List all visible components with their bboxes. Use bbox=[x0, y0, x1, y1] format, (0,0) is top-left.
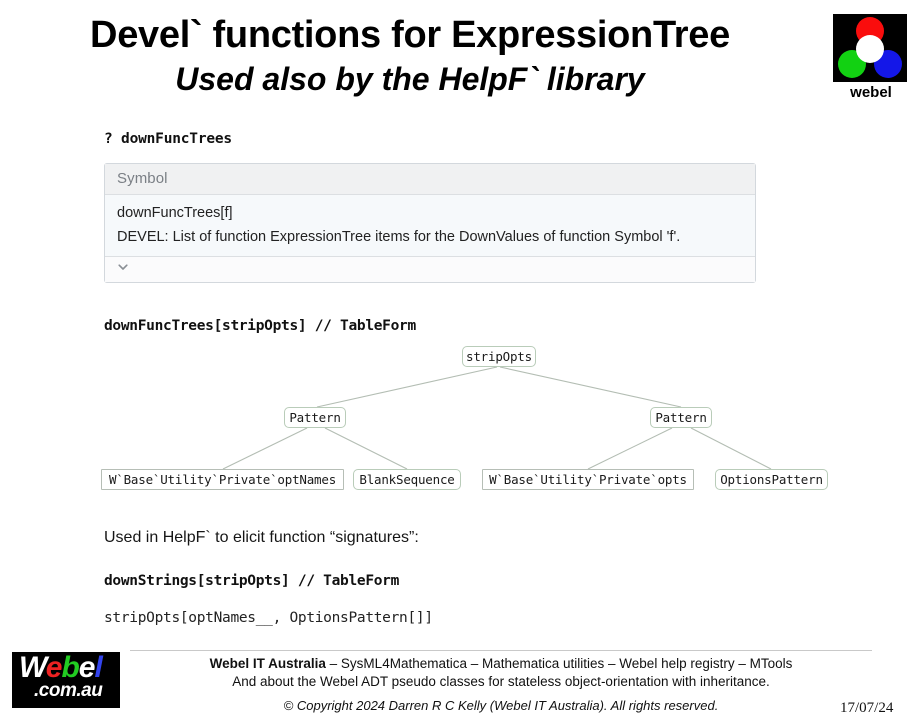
info-usage-text: downFuncTrees[f] bbox=[117, 205, 743, 221]
slide-footer: Webel .com.au Webel IT Australia – SysML… bbox=[0, 638, 920, 725]
tree-node-blanksequence[interactable]: BlankSequence bbox=[353, 469, 461, 490]
footer-line-1: Webel IT Australia – SysML4Mathematica –… bbox=[130, 656, 872, 671]
info-panel-header: Symbol bbox=[105, 164, 755, 195]
rgb-circles-icon bbox=[833, 14, 907, 82]
logo-caption: webel bbox=[833, 84, 909, 101]
footer-copyright: © Copyright 2024 Darren R C Kelly (Webel… bbox=[130, 698, 872, 713]
wordmark-domain: .com.au bbox=[34, 680, 102, 702]
code-line-stripopts-signature: stripOpts[optNames__, OptionsPattern[]] bbox=[104, 610, 433, 626]
title-block: Devel` functions for ExpressionTree Used… bbox=[0, 12, 820, 100]
info-description-text: DEVEL: List of function ExpressionTree i… bbox=[117, 229, 743, 245]
tree-node-root[interactable]: stripOpts bbox=[462, 346, 536, 367]
slide-header: Devel` functions for ExpressionTree Used… bbox=[0, 0, 920, 118]
page-title: Devel` functions for ExpressionTree bbox=[0, 12, 820, 58]
code-line-downstrings: downStrings[stripOpts] // TableForm bbox=[104, 573, 399, 589]
footer-company-name: Webel IT Australia bbox=[210, 656, 326, 671]
tree-node-optionspattern[interactable]: OptionsPattern bbox=[715, 469, 828, 490]
tree-node-pattern-right[interactable]: Pattern bbox=[650, 407, 712, 428]
footer-divider bbox=[130, 650, 872, 651]
query-input-line: ? downFuncTrees bbox=[104, 131, 232, 147]
info-panel-body: downFuncTrees[f] DEVEL: List of function… bbox=[105, 195, 755, 257]
code-line-downfunctrees: downFuncTrees[stripOpts] // TableForm bbox=[104, 318, 416, 334]
info-panel-footer[interactable] bbox=[105, 257, 755, 282]
tree-node-pattern-left[interactable]: Pattern bbox=[284, 407, 346, 428]
chevron-down-icon[interactable] bbox=[117, 261, 129, 273]
page-subtitle: Used also by the HelpF` library bbox=[0, 58, 820, 100]
expression-tree-diagram: stripOpts Pattern Pattern W`Base`Utility… bbox=[0, 346, 920, 496]
prose-helpf-signatures: Used in HelpF` to elicit function “signa… bbox=[104, 529, 419, 547]
tree-node-optnames[interactable]: W`Base`Utility`Private`optNames bbox=[101, 469, 344, 490]
footer-date: 17/07/24 bbox=[840, 700, 893, 717]
footer-products-list: – SysML4Mathematica – Mathematica utilit… bbox=[330, 656, 793, 671]
footer-line-2: And about the Webel ADT pseudo classes f… bbox=[130, 674, 872, 689]
webel-rgb-logo: webel bbox=[833, 14, 909, 101]
webel-wordmark-logo: Webel .com.au bbox=[12, 652, 120, 708]
slide-content: ? downFuncTrees Symbol downFuncTrees[f] … bbox=[0, 118, 920, 638]
tree-node-opts[interactable]: W`Base`Utility`Private`opts bbox=[482, 469, 694, 490]
symbol-info-panel: Symbol downFuncTrees[f] DEVEL: List of f… bbox=[104, 163, 756, 283]
white-circle-icon bbox=[856, 35, 884, 63]
